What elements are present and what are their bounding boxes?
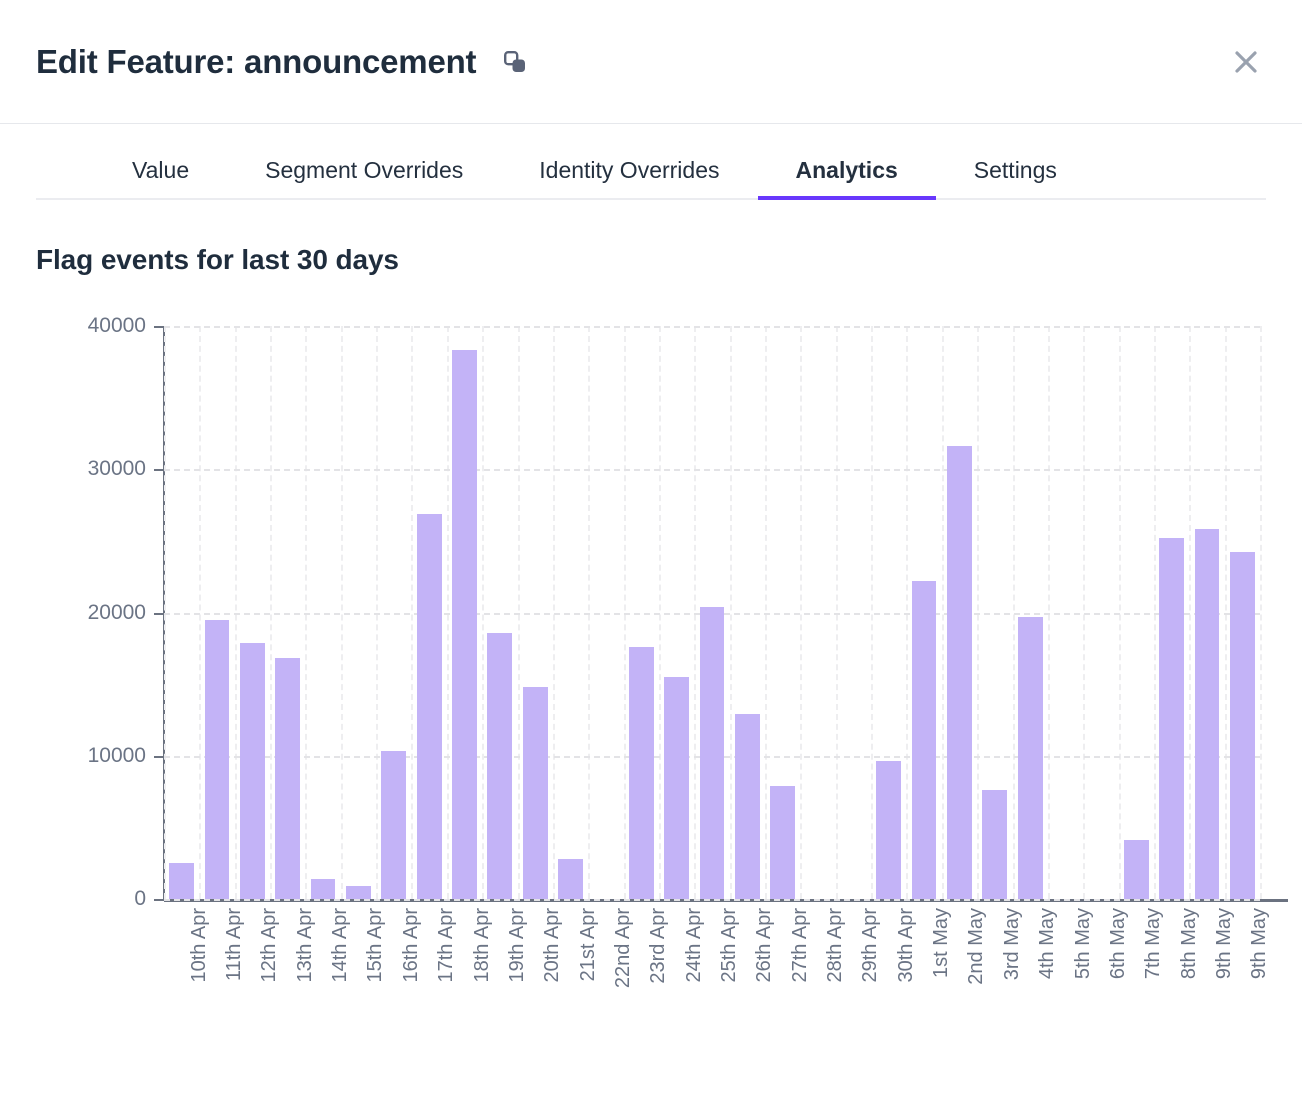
gridline-horizontal: [164, 326, 1260, 328]
y-tick-mark: [154, 756, 164, 758]
chart-title: Flag events for last 30 days: [36, 244, 1266, 276]
bar[interactable]: [770, 786, 795, 899]
x-tick-label: 1st May: [931, 908, 951, 978]
x-tick-label: 8th May: [1179, 908, 1199, 979]
x-tick-label: 10th Apr: [189, 908, 209, 983]
close-icon[interactable]: [1224, 40, 1268, 84]
gridline-horizontal: [164, 469, 1260, 471]
y-tick-label: 40000: [88, 314, 146, 338]
y-tick-label: 10000: [88, 744, 146, 768]
y-tick-label: 30000: [88, 457, 146, 481]
y-tick-mark: [154, 326, 164, 328]
tab-settings[interactable]: Settings: [936, 157, 1095, 198]
copy-icon-glyph: [502, 49, 528, 75]
tab-identity-overrides[interactable]: Identity Overrides: [501, 157, 757, 198]
bar[interactable]: [487, 633, 512, 899]
bar[interactable]: [417, 514, 442, 899]
x-tick-label: 23rd Apr: [648, 908, 668, 984]
y-tick-label: 20000: [88, 601, 146, 625]
x-tick-label: 13th Apr: [295, 908, 315, 983]
x-tick-label: 16th Apr: [401, 908, 421, 983]
x-tick-label: 15th Apr: [365, 908, 385, 983]
x-tick-label: 7th May: [1143, 908, 1163, 979]
x-tick-label: 3rd May: [1002, 908, 1022, 980]
y-tick-mark: [154, 469, 164, 471]
tab-segment-overrides[interactable]: Segment Overrides: [227, 157, 501, 198]
bar[interactable]: [1195, 529, 1220, 899]
x-tick-label: 22nd Apr: [613, 908, 633, 988]
bar[interactable]: [558, 859, 583, 899]
bar[interactable]: [629, 647, 654, 899]
x-tick-label: 24th Apr: [684, 908, 704, 983]
bar[interactable]: [1159, 538, 1184, 899]
x-tick-label: 20th Apr: [542, 908, 562, 983]
y-tick-mark: [154, 899, 164, 901]
tab-analytics[interactable]: Analytics: [758, 157, 936, 198]
bar[interactable]: [876, 761, 901, 899]
x-tick-label: 18th Apr: [472, 908, 492, 983]
y-tick-mark: [154, 613, 164, 615]
x-tick-label: 30th Apr: [896, 908, 916, 983]
x-tick-label: 29th Apr: [860, 908, 880, 983]
bar[interactable]: [912, 581, 937, 899]
x-tick-label: 9th May: [1214, 908, 1234, 979]
bar[interactable]: [1018, 617, 1043, 899]
x-tick-label: 14th Apr: [330, 908, 350, 983]
close-icon-glyph: [1231, 47, 1261, 77]
x-tick-label: 27th Apr: [790, 908, 810, 983]
x-tick-label: 17th Apr: [436, 908, 456, 983]
gridline-horizontal: [164, 899, 1260, 901]
bar[interactable]: [700, 607, 725, 899]
bar[interactable]: [664, 677, 689, 899]
x-tick-label: 5th May: [1073, 908, 1093, 979]
bar[interactable]: [1124, 840, 1149, 899]
bar[interactable]: [452, 350, 477, 899]
bar[interactable]: [1230, 552, 1255, 899]
x-tick-label: 9th May: [1249, 908, 1269, 979]
plot-area: 010000200003000040000: [164, 326, 1260, 899]
y-tick-label: 0: [134, 887, 146, 911]
x-tick-label: 28th Apr: [825, 908, 845, 983]
x-tick-label: 6th May: [1108, 908, 1128, 979]
bar[interactable]: [275, 658, 300, 899]
tab-bar: Value Segment Overrides Identity Overrid…: [36, 124, 1266, 200]
copy-icon[interactable]: [498, 45, 532, 79]
bar[interactable]: [205, 620, 230, 899]
tab-value[interactable]: Value: [94, 157, 227, 198]
x-tick-label: 26th Apr: [754, 908, 774, 983]
flag-events-bar-chart: 010000200003000040000 10th Apr11th Apr12…: [36, 318, 1266, 1008]
gridline-vertical: [1260, 326, 1262, 899]
bar[interactable]: [240, 643, 265, 899]
bar[interactable]: [982, 790, 1007, 899]
x-tick-label: 19th Apr: [507, 908, 527, 983]
bar[interactable]: [169, 863, 194, 899]
x-tick-label: 12th Apr: [259, 908, 279, 983]
x-tick-label: 25th Apr: [719, 908, 739, 983]
x-tick-label: 21st Apr: [578, 908, 598, 981]
x-axis-labels: 10th Apr11th Apr12th Apr13th Apr14th Apr…: [164, 908, 1260, 1028]
bar[interactable]: [311, 879, 336, 899]
x-tick-label: 4th May: [1037, 908, 1057, 979]
bar[interactable]: [346, 886, 371, 899]
analytics-panel: Flag events for last 30 days 01000020000…: [0, 244, 1302, 1008]
bar[interactable]: [523, 687, 548, 899]
bar[interactable]: [381, 751, 406, 899]
x-tick-label: 11th Apr: [224, 908, 244, 981]
modal-header: Edit Feature: announcement: [0, 0, 1302, 124]
x-tick-label: 2nd May: [966, 908, 986, 985]
bar[interactable]: [947, 446, 972, 899]
bar[interactable]: [735, 714, 760, 899]
page-title: Edit Feature: announcement: [36, 43, 476, 81]
